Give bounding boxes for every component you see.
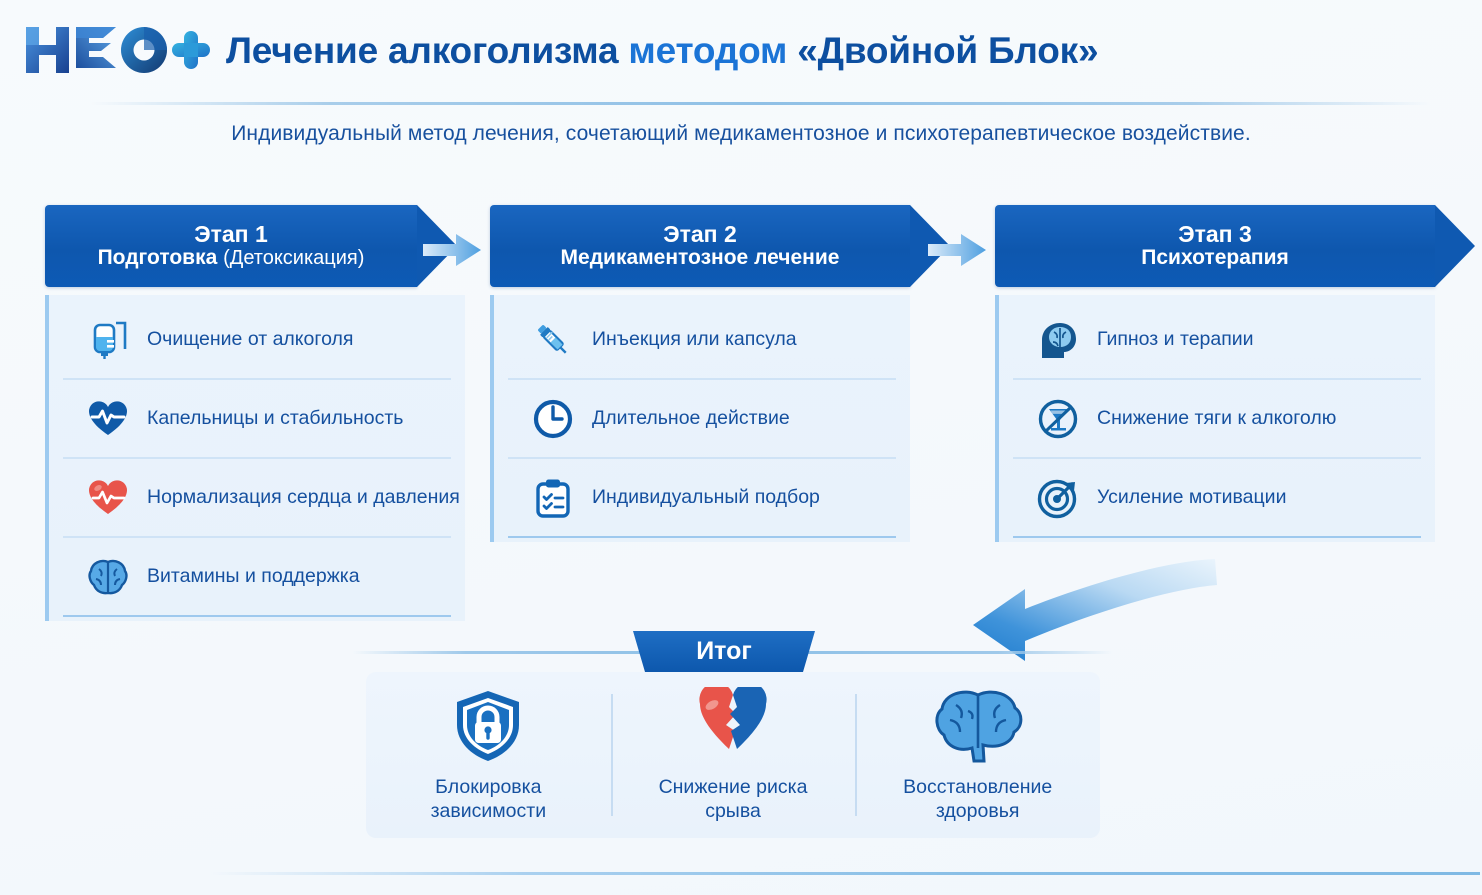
stage-2-number: Этап 2 — [663, 222, 737, 247]
stage-2-item-1[interactable]: Инъекция или капсула — [508, 301, 896, 380]
result-item-1-label: Блокировка зависимости — [431, 775, 547, 824]
stage-3-header[interactable]: Этап 3 Психотерапия — [995, 205, 1435, 287]
stage-3-item-2-label: Снижение тяги к алкоголю — [1097, 407, 1336, 430]
clock-icon — [530, 396, 576, 442]
page-header: Лечение алкоголизма методом «Двойной Бло… — [0, 0, 1482, 100]
stage-1-item-2[interactable]: Капельницы и стабильность — [63, 380, 451, 459]
stage-1-item-3-label: Нормализация сердца и давления — [147, 486, 460, 509]
logo-icon — [22, 21, 212, 79]
heart-pulse-blue-icon — [85, 396, 131, 442]
stage-1-item-3[interactable]: Нормализация сердца и давления — [63, 459, 451, 538]
checklist-clipboard-icon — [530, 475, 576, 521]
page-subtitle: Индивидуальный метод лечения, сочетающий… — [0, 122, 1482, 146]
stage-1-item-4[interactable]: Витамины и поддержка — [63, 538, 451, 617]
stage-column-1: Этап 1 Подготовка (Детоксикация) — [45, 205, 465, 621]
stage-2-name: Медикаментозное лечение — [561, 246, 840, 269]
stage-2-item-1-label: Инъекция или капсула — [592, 328, 797, 351]
stage-1-name-extra: (Детоксикация) — [223, 247, 364, 269]
head-brain-icon — [1035, 317, 1081, 363]
broken-heart-icon — [688, 687, 778, 765]
result-item-3-label: Восстановление здоровья — [903, 775, 1052, 824]
stage-1-number: Этап 1 — [194, 222, 268, 247]
result-banner-label: Итог — [633, 631, 815, 675]
page-title: Лечение алкоголизма методом «Двойной Бло… — [226, 32, 1098, 69]
stage-column-3: Этап 3 Психотерапия Гипноз и терапии — [995, 205, 1435, 542]
title-part-3: «Двойной Блок» — [797, 30, 1098, 71]
result-item-2-label: Снижение риска срыва — [659, 775, 808, 824]
stage-3-item-3-label: Усиление мотивации — [1097, 486, 1286, 509]
syringe-icon — [530, 317, 576, 363]
stage-1-header[interactable]: Этап 1 Подготовка (Детоксикация) — [45, 205, 417, 287]
heart-pulse-red-icon — [85, 475, 131, 521]
flow-curved-arrow — [955, 545, 1265, 665]
stage-3-item-1[interactable]: Гипноз и терапии — [1013, 301, 1421, 380]
stage-1-item-1-label: Очищение от алкоголя — [147, 328, 353, 351]
brain-recovery-icon — [930, 687, 1026, 765]
iv-drip-icon — [85, 317, 131, 363]
stage-2-item-2-label: Длительное действие — [592, 407, 790, 430]
result-item-2[interactable]: Снижение риска срыва — [611, 672, 856, 838]
stage-2-header[interactable]: Этап 2 Медикаментозное лечение — [490, 205, 910, 287]
no-alcohol-glass-icon — [1035, 396, 1081, 442]
stage-1-item-2-label: Капельницы и стабильность — [147, 407, 403, 430]
stage-1-item-1[interactable]: Очищение от алкоголя — [63, 301, 451, 380]
neo-plus-logo — [22, 20, 212, 80]
result-item-3[interactable]: Восстановление здоровья — [855, 672, 1100, 838]
stage-1-body: Очищение от алкоголя Капельницы и стабил… — [45, 295, 465, 621]
stage-3-body: Гипноз и терапии Снижение тяги к алкогол… — [995, 295, 1435, 542]
stage-2-item-3-label: Индивидуальный подбор — [592, 486, 820, 509]
result-banner: Итог — [633, 631, 815, 675]
title-part-2: методом — [628, 30, 787, 71]
bottom-divider — [210, 872, 1480, 875]
stage-1-name: Подготовка — [98, 246, 218, 269]
shield-lock-icon — [449, 687, 527, 765]
result-card: Блокировка зависимости Снижение риска ср… — [366, 672, 1100, 838]
title-part-1: Лечение алкоголизма — [226, 30, 618, 71]
stage-3-item-2[interactable]: Снижение тяги к алкоголю — [1013, 380, 1421, 459]
result-item-1[interactable]: Блокировка зависимости — [366, 672, 611, 838]
stage-3-number: Этап 3 — [1178, 222, 1252, 247]
header-divider — [90, 102, 1430, 105]
stage-2-body: Инъекция или капсула Длительное действие — [490, 295, 910, 542]
stage-3-name: Психотерапия — [1141, 246, 1288, 269]
stage-arrow-1-2 — [423, 233, 477, 263]
stage-arrow-2-3 — [928, 233, 982, 263]
stage-2-item-2[interactable]: Длительное действие — [508, 380, 896, 459]
stage-3-item-1-label: Гипноз и терапии — [1097, 328, 1254, 351]
target-arrow-icon — [1035, 475, 1081, 521]
brain-icon — [85, 554, 131, 600]
stage-2-item-3[interactable]: Индивидуальный подбор — [508, 459, 896, 538]
stage-column-2: Этап 2 Медикаментозное лечение — [490, 205, 910, 542]
stage-1-item-4-label: Витамины и поддержка — [147, 565, 360, 588]
stage-3-item-3[interactable]: Усиление мотивации — [1013, 459, 1421, 538]
